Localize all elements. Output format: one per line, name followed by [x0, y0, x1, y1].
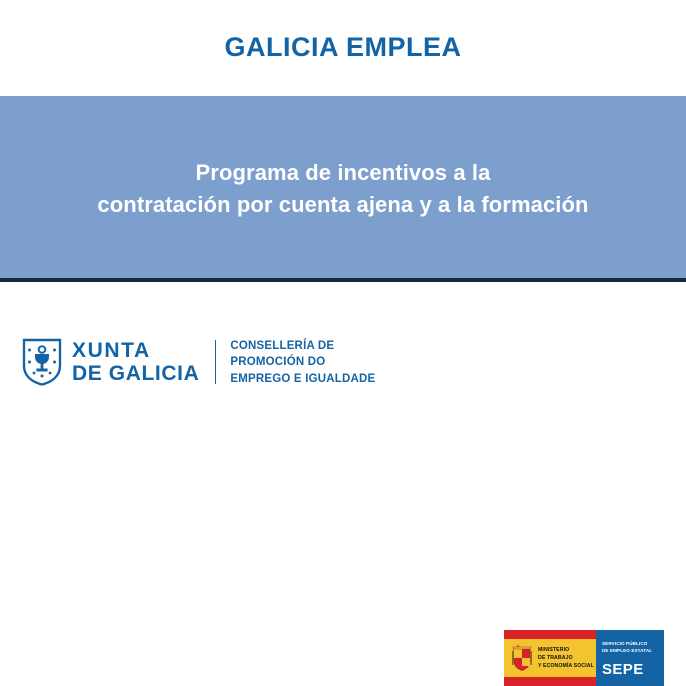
- sepe-line-2: DE EMPLEO ESTATAL: [602, 647, 652, 654]
- banner-bottom-rule: [0, 278, 686, 282]
- sepe-acronym: SEPE: [602, 661, 644, 678]
- program-banner: Programa de incentivos a la contratación…: [0, 96, 686, 282]
- government-logos: MINISTERIO DE TRABAJO Y ECONOMÍA SOCIAL …: [504, 630, 664, 686]
- ministerio-logo: MINISTERIO DE TRABAJO Y ECONOMÍA SOCIAL: [504, 630, 596, 686]
- sepe-line-1: SERVICIO PÚBLICO: [602, 640, 652, 647]
- xunta-word-2: DE GALICIA: [72, 363, 199, 384]
- page-title: GALICIA EMPLEA: [224, 33, 461, 63]
- program-banner-line-1: Programa de incentivos a la: [97, 157, 588, 189]
- program-banner-text: Programa de incentivos a la contratación…: [79, 157, 606, 221]
- spain-coat-of-arms-icon: [510, 643, 534, 673]
- xunta-de-galicia-logo: XUNTA DE GALICIA CONSELLERÍA DE PROMOCIÓ…: [22, 338, 375, 387]
- ministerio-line-1: MINISTERIO: [538, 647, 594, 655]
- xunta-shield-icon: [22, 338, 62, 386]
- conselleria-line-3: EMPREGO E IGUALDADE: [230, 371, 375, 387]
- xunta-word-1: XUNTA: [72, 340, 199, 361]
- title-section: GALICIA EMPLEA: [0, 0, 686, 96]
- poster-page: GALICIA EMPLEA Programa de incentivos a …: [0, 0, 686, 410]
- footer-section: XUNTA DE GALICIA CONSELLERÍA DE PROMOCIÓ…: [0, 286, 686, 410]
- ministerio-text: MINISTERIO DE TRABAJO Y ECONOMÍA SOCIAL: [538, 647, 594, 670]
- conselleria-line-1: CONSELLERÍA DE: [230, 338, 375, 354]
- conselleria-line-2: PROMOCIÓN DO: [230, 354, 375, 370]
- xunta-wordmark: XUNTA DE GALICIA: [72, 340, 199, 384]
- logo-divider: [215, 340, 216, 384]
- sepe-logo: SERVICIO PÚBLICO DE EMPLEO ESTATAL SEPE: [596, 630, 664, 686]
- ministerio-line-3: Y ECONOMÍA SOCIAL: [538, 663, 594, 671]
- program-banner-line-2: contratación por cuenta ajena y a la for…: [97, 189, 588, 221]
- ministerio-line-2: DE TRABAJO: [538, 655, 594, 663]
- conselleria-text: CONSELLERÍA DE PROMOCIÓN DO EMPREGO E IG…: [230, 338, 375, 387]
- sepe-description: SERVICIO PÚBLICO DE EMPLEO ESTATAL: [602, 640, 652, 654]
